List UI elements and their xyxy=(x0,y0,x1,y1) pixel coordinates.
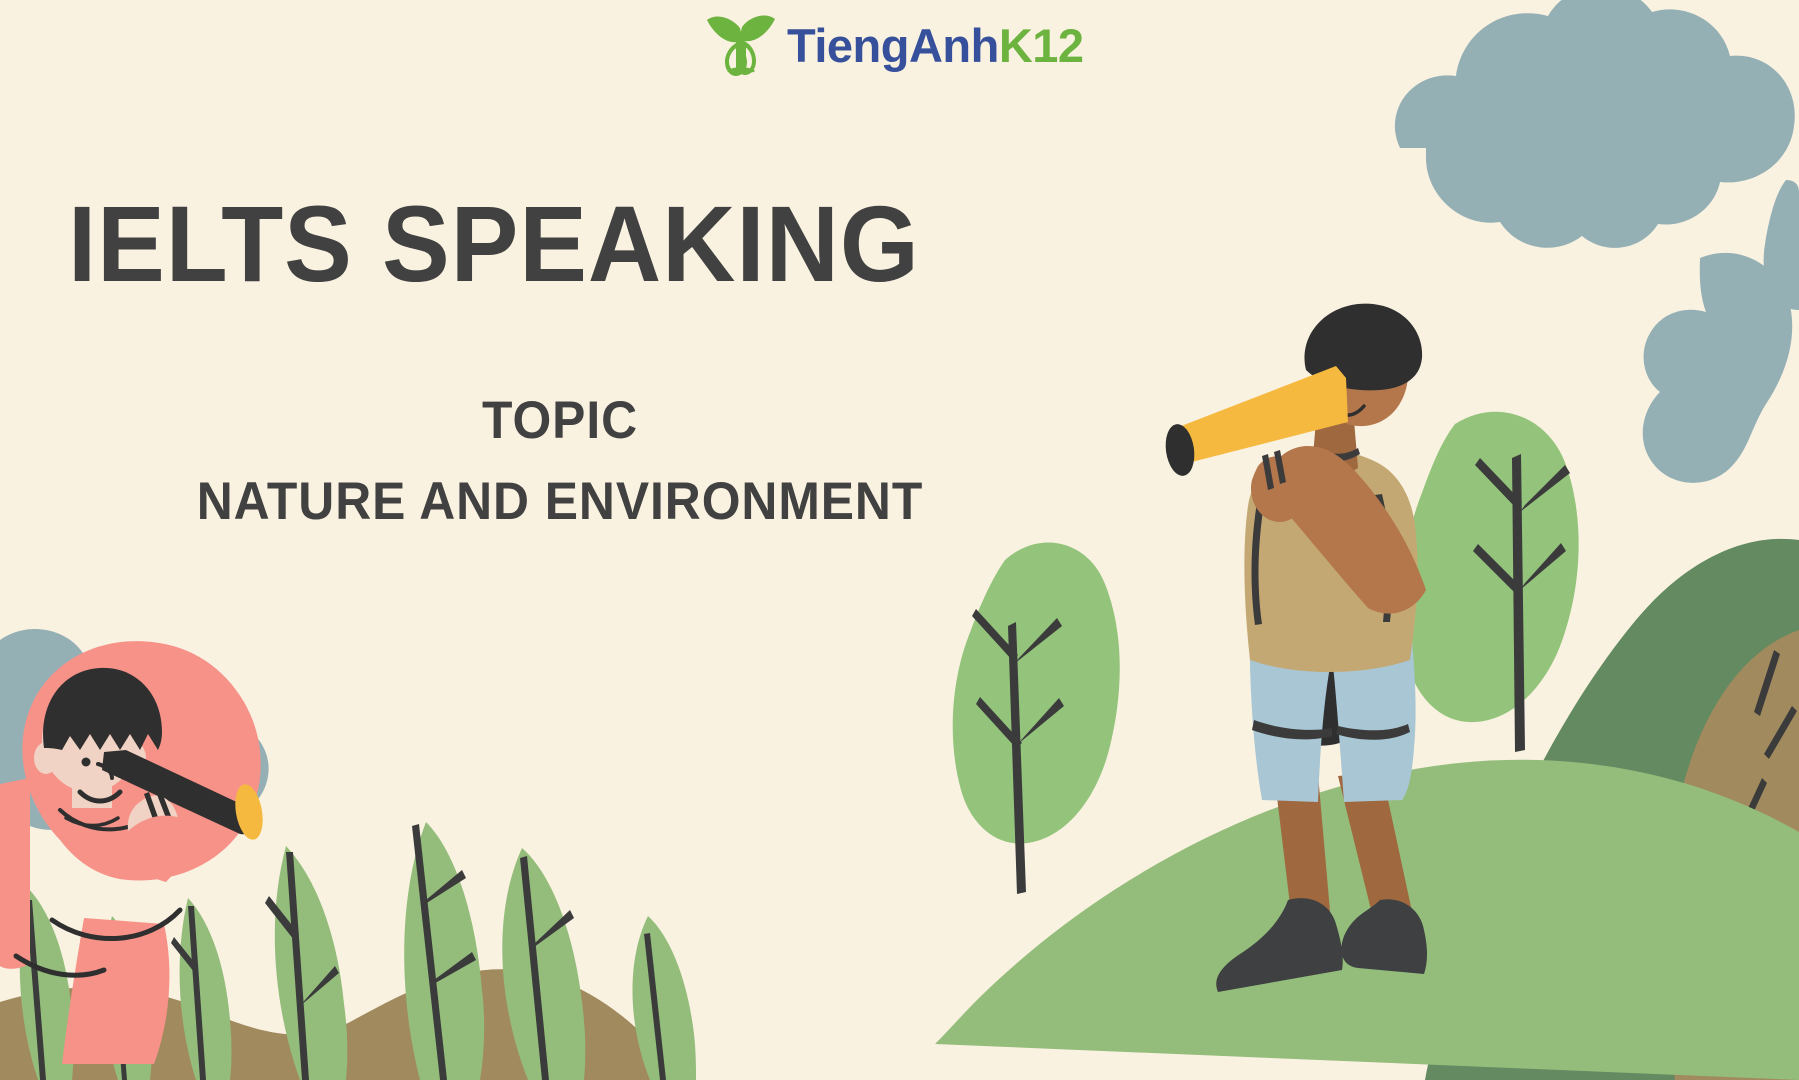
brand-name: TiengAnh xyxy=(787,19,999,72)
topic-label: TOPIC xyxy=(90,390,1030,451)
poster-canvas: TiengAnhK12 IELTS SPEAKING TOPIC NATURE … xyxy=(0,0,1799,1080)
eye xyxy=(1353,381,1361,389)
topic-block: TOPIC NATURE AND ENVIRONMENT xyxy=(60,390,1060,533)
palm-sprout-icon xyxy=(703,14,777,76)
brand-wordmark: TiengAnhK12 xyxy=(787,22,1084,69)
page-title: IELTS SPEAKING xyxy=(68,190,1008,298)
nature-illustration xyxy=(0,0,1799,1080)
boy-eye xyxy=(82,758,91,767)
brand-suffix: K12 xyxy=(999,19,1084,72)
brand-logo[interactable]: TiengAnhK12 xyxy=(703,12,1084,78)
topic-name: NATURE AND ENVIRONMENT xyxy=(90,471,1030,532)
